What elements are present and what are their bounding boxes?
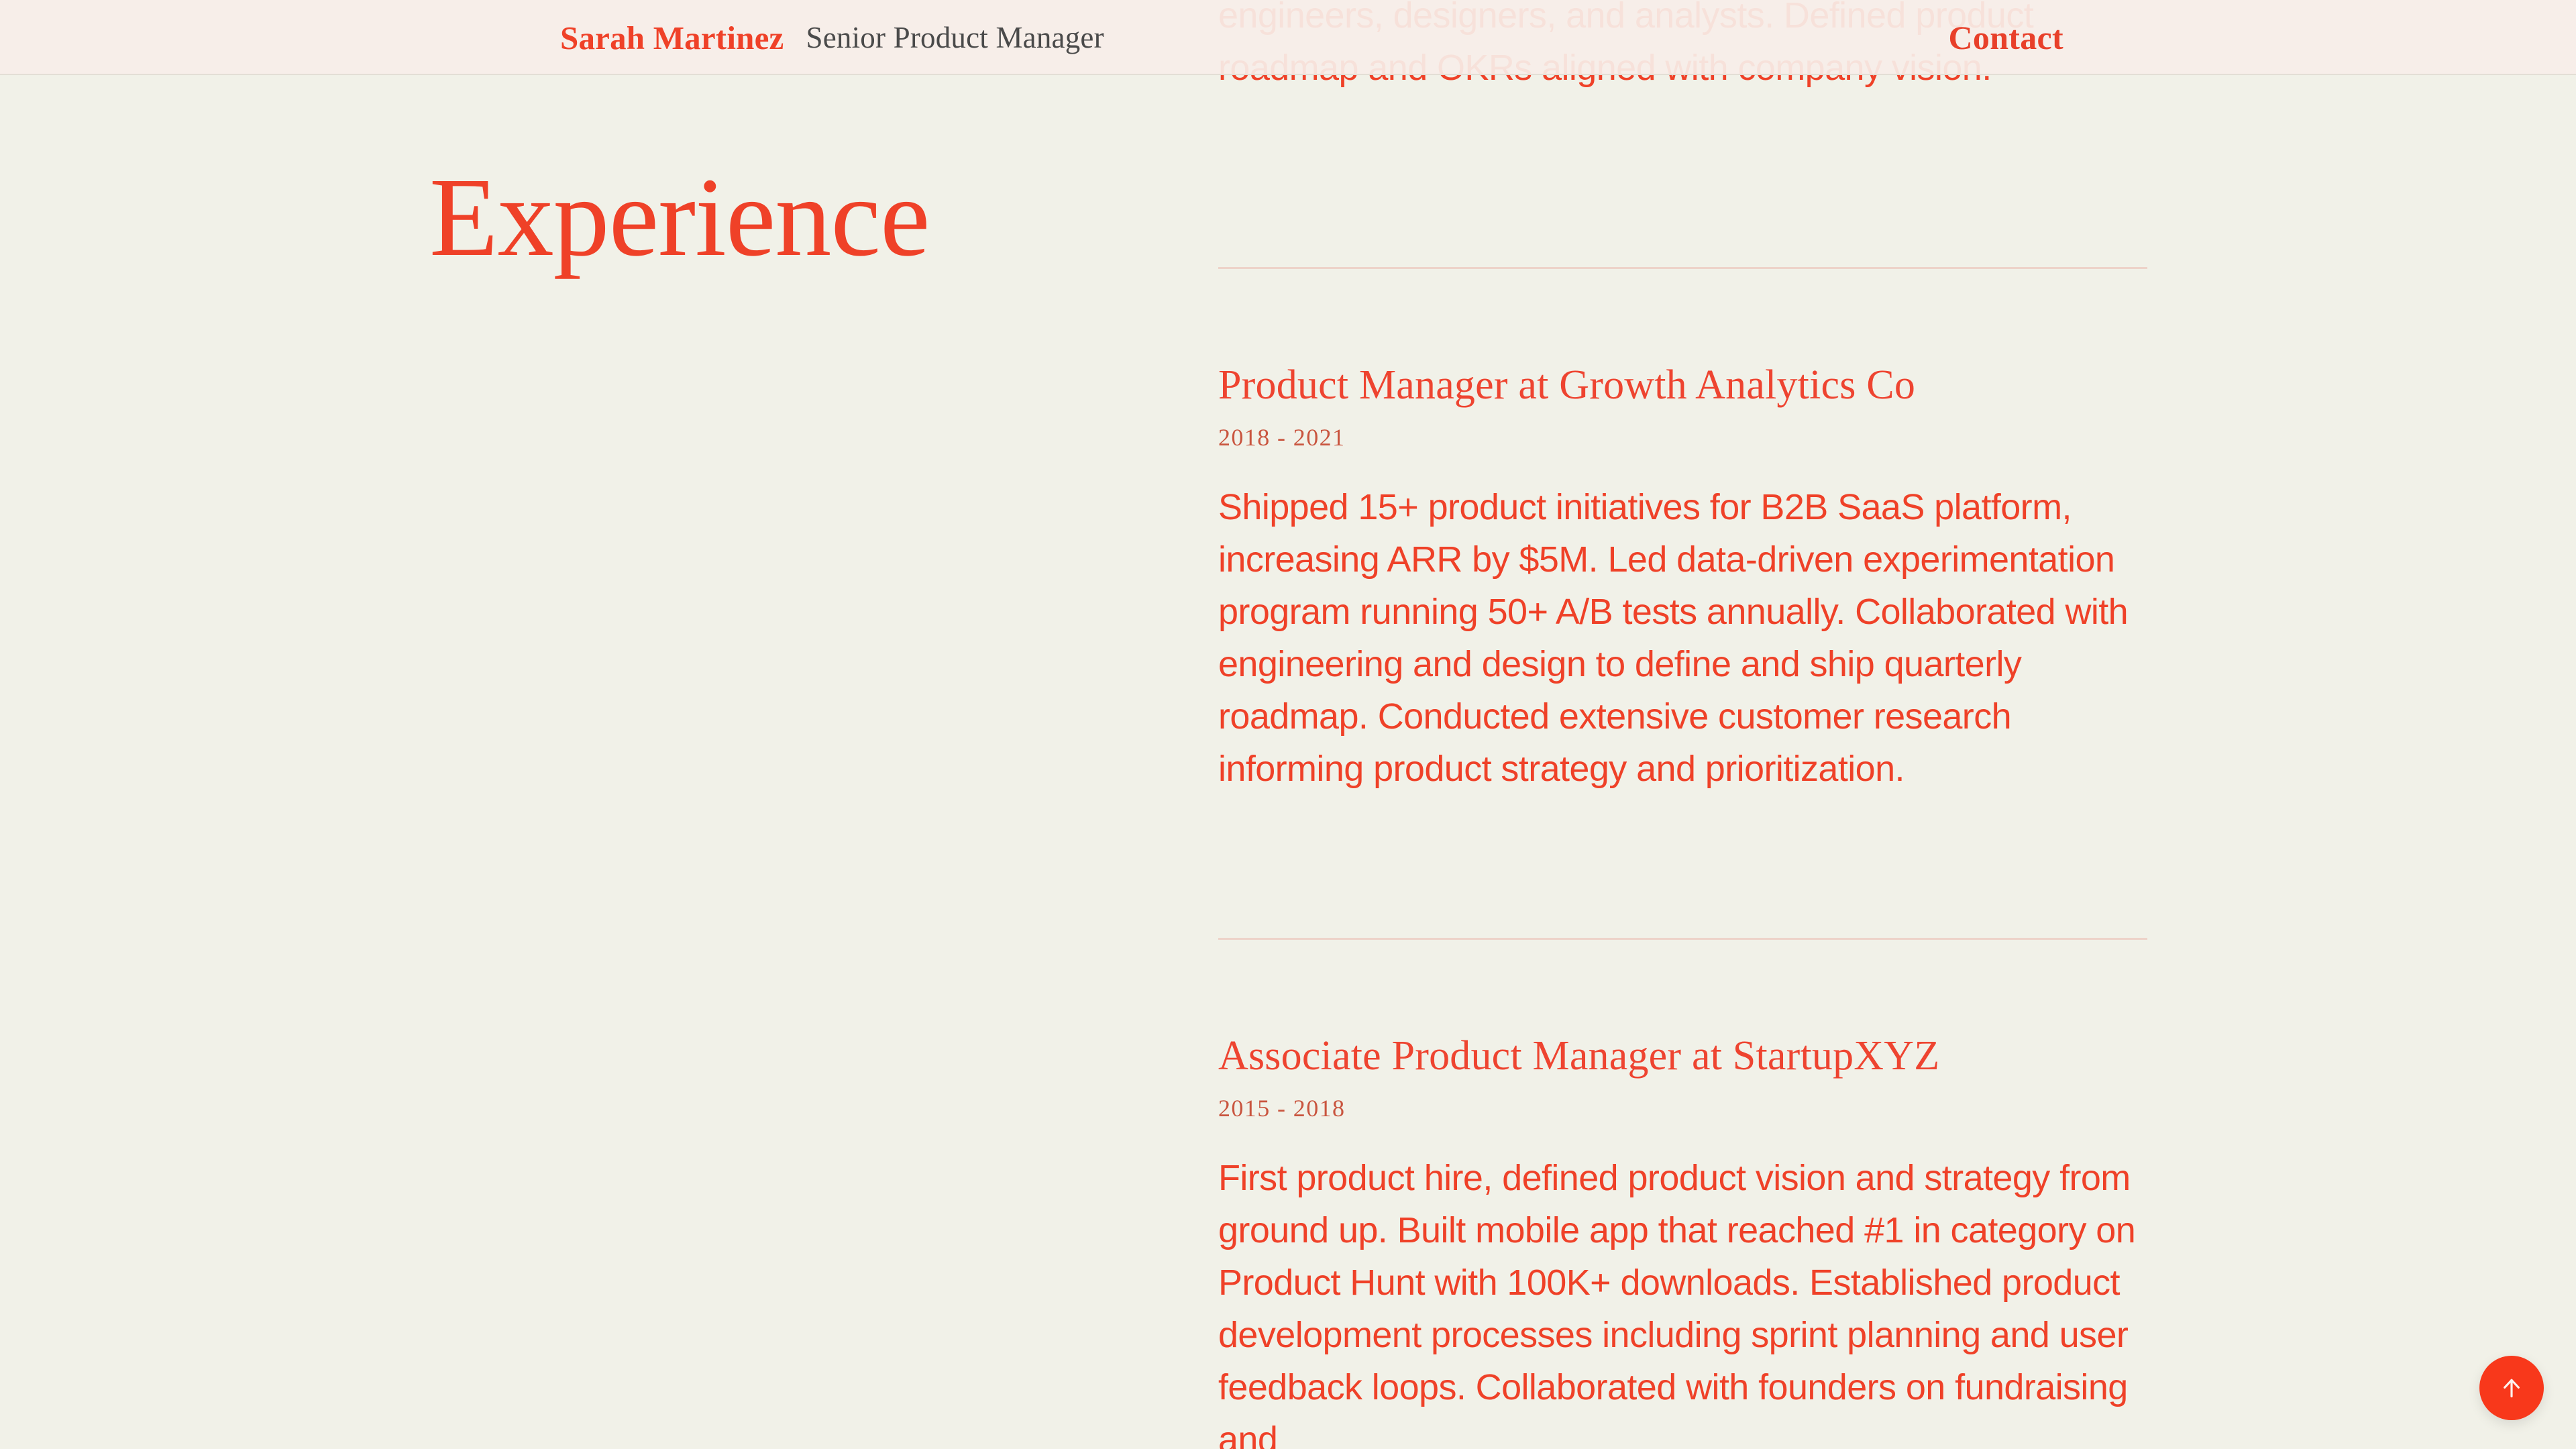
job-description: First product hire, defined product visi… — [1218, 1152, 2147, 1449]
nav-link-contact[interactable]: Contact — [1948, 0, 2063, 75]
job-dates: 2015 - 2018 — [1218, 1096, 2147, 1120]
brand[interactable]: Sarah Martinez Senior Product Manager — [560, 0, 1104, 75]
page-root: engineers, designers, and analysts. Defi… — [0, 0, 2576, 1449]
scroll-to-top-button[interactable] — [2479, 1356, 2544, 1420]
brand-name: Sarah Martinez — [560, 21, 784, 54]
job-title: Product Manager at Growth Analytics Co — [1218, 362, 2147, 408]
arrow-up-icon — [2498, 1375, 2525, 1401]
job-description: Shipped 15+ product initiatives for B2B … — [1218, 481, 2147, 795]
job-title: Associate Product Manager at StartupXYZ — [1218, 1033, 2147, 1079]
job-dates: 2018 - 2021 — [1218, 425, 2147, 449]
brand-role: Senior Product Manager — [806, 23, 1104, 53]
site-header: Sarah Martinez Senior Product Manager Co… — [0, 0, 2576, 75]
page-title: Experience — [429, 161, 930, 274]
experience-entry: Associate Product Manager at StartupXYZ … — [1218, 1033, 2147, 1449]
divider — [1218, 267, 2147, 269]
divider — [1218, 938, 2147, 940]
experience-entry: Product Manager at Growth Analytics Co 2… — [1218, 362, 2147, 795]
